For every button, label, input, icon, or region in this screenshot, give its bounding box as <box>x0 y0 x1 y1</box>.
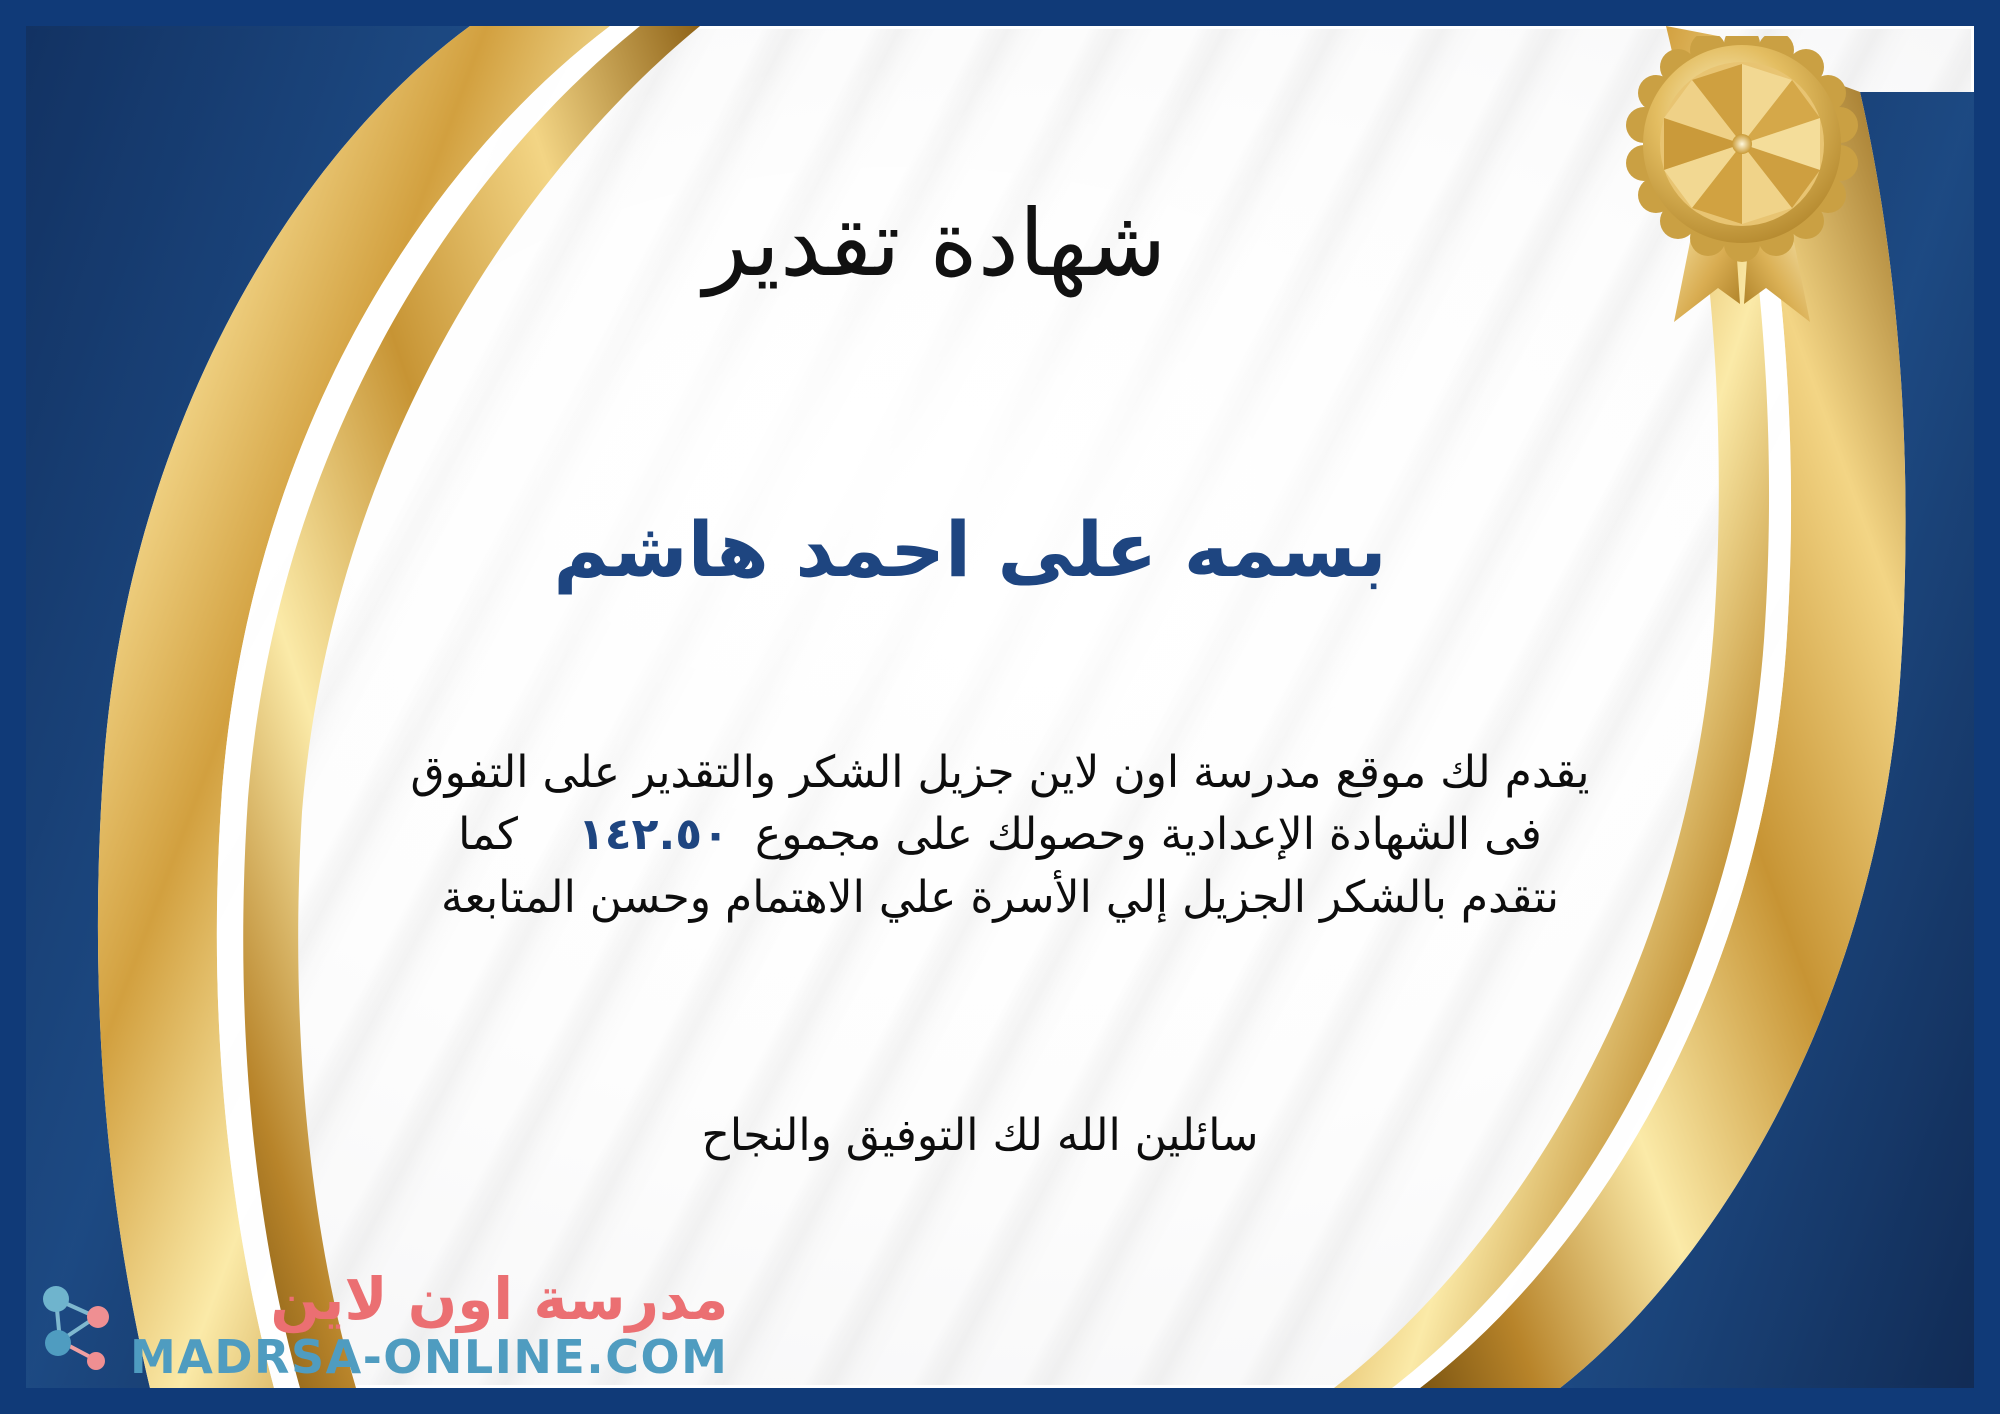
gold-rosette-seal-icon <box>1622 36 1862 326</box>
network-nodes-icon <box>34 1277 120 1373</box>
closing-wish: سائلين الله لك التوفيق والنجاح <box>0 1110 2000 1161</box>
certificate-page: شهادة تقدير بسمه على احمد هاشم يقدم لك م… <box>0 0 2000 1414</box>
body-line-2-prefix: فى الشهادة الإعدادية وحصولك على مجموع <box>755 809 1542 860</box>
recipient-name: بسمه على احمد هاشم <box>0 505 2000 594</box>
brand-website[interactable]: MADRSA-ONLINE.COM <box>130 1334 728 1380</box>
brand-logo[interactable]: مدرسة اون لاين MADRSA-ONLINE.COM <box>34 1270 728 1380</box>
certificate-body: يقدم لك موقع مدرسة اون لاين جزيل الشكر و… <box>70 742 1930 929</box>
body-line-3: نتقدم بالشكر الجزيل إلي الأسرة علي الاهت… <box>70 867 1930 929</box>
body-line-1: يقدم لك موقع مدرسة اون لاين جزيل الشكر و… <box>70 742 1930 804</box>
brand-arabic-name: مدرسة اون لاين <box>270 1270 728 1328</box>
total-score-value: ١٤٢.٥٠ <box>552 809 755 860</box>
body-line-2-suffix: كما <box>458 809 518 860</box>
body-line-2: فى الشهادة الإعدادية وحصولك على مجموع١٤٢… <box>70 804 1930 866</box>
